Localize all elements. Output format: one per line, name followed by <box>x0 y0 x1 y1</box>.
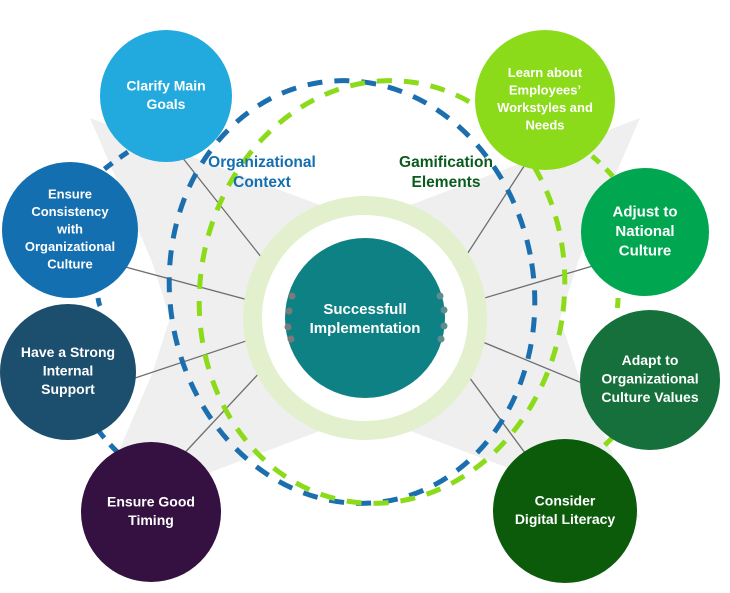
hub-dot-7 <box>441 323 448 330</box>
node-label-adjust-to-national-culture-line2: National <box>615 223 674 240</box>
center-label-line2: Implementation <box>310 320 421 337</box>
node-adapt-to-organizational-culture-values[interactable]: Adapt toOrganizationalCulture Values <box>580 310 720 450</box>
hub-dot-8 <box>438 336 445 343</box>
organizational-context-label-line2: Context <box>233 174 291 191</box>
node-label-learn-about-employees-workstyles-and-needs-line1: Learn about <box>508 65 583 80</box>
hub-dot-6 <box>441 307 448 314</box>
node-label-learn-about-employees-workstyles-and-needs-line4: Needs <box>525 118 564 133</box>
node-label-learn-about-employees-workstyles-and-needs-line3: Workstyles and <box>497 100 593 115</box>
diagram-root: Successfull Implementation Organizationa… <box>0 0 730 593</box>
node-ensure-good-timing[interactable]: Ensure GoodTiming <box>81 442 221 582</box>
hub-dot-5 <box>437 293 444 300</box>
node-label-ensure-consistency-with-organizational-culture-line3: with <box>56 221 83 236</box>
node-adjust-to-national-culture[interactable]: Adjust toNationalCulture <box>581 168 709 296</box>
node-label-consider-digital-literacy-line2: Digital Literacy <box>515 511 616 527</box>
node-label-ensure-consistency-with-organizational-culture-line1: Ensure <box>48 186 92 201</box>
hub-dot-3 <box>285 324 292 331</box>
center-label-line1: Successfull <box>323 301 406 318</box>
node-label-adapt-to-organizational-culture-values-line1: Adapt to <box>622 352 679 368</box>
node-label-clarify-main-goals-line2: Goals <box>147 96 186 112</box>
node-label-ensure-good-timing-line2: Timing <box>128 512 174 528</box>
framework-diagram: Successfull Implementation Organizationa… <box>0 0 730 593</box>
node-label-learn-about-employees-workstyles-and-needs-line2: Employees’ <box>509 83 581 98</box>
node-have-a-strong-internal-support[interactable]: Have a StrongInternalSupport <box>0 304 136 440</box>
organizational-context-label-line1: Organizational <box>208 154 316 171</box>
node-label-ensure-consistency-with-organizational-culture-line5: Culture <box>47 256 93 271</box>
node-label-consider-digital-literacy-line1: Consider <box>535 492 596 508</box>
hub-dot-1 <box>289 293 296 300</box>
node-ensure-consistency-with-organizational-culture[interactable]: EnsureConsistencywithOrganizationalCultu… <box>2 162 138 298</box>
node-label-have-a-strong-internal-support-line1: Have a Strong <box>21 344 115 360</box>
node-consider-digital-literacy[interactable]: ConsiderDigital Literacy <box>493 439 637 583</box>
center-core-circle <box>285 238 445 398</box>
node-label-adjust-to-national-culture-line3: Culture <box>619 242 672 259</box>
hub-dot-2 <box>286 308 293 315</box>
gamification-elements-label-line2: Elements <box>412 174 481 191</box>
node-label-adapt-to-organizational-culture-values-line2: Organizational <box>601 371 698 387</box>
link-consistency-to-support <box>98 298 100 306</box>
node-label-adjust-to-national-culture-line1: Adjust to <box>613 203 678 220</box>
node-learn-about-employees-workstyles-and-needs[interactable]: Learn aboutEmployees’Workstyles andNeeds <box>475 30 615 170</box>
node-clarify-main-goals[interactable]: Clarify MainGoals <box>100 30 232 162</box>
center-rings <box>243 196 487 440</box>
node-label-ensure-good-timing-line1: Ensure Good <box>107 493 195 509</box>
node-label-ensure-consistency-with-organizational-culture-line2: Consistency <box>31 204 109 219</box>
link-adjust-to-adapt <box>617 298 618 310</box>
node-label-adapt-to-organizational-culture-values-line3: Culture Values <box>601 389 698 405</box>
node-label-clarify-main-goals-line1: Clarify Main <box>126 77 205 93</box>
node-label-have-a-strong-internal-support-line2: Internal <box>43 363 94 379</box>
node-label-ensure-consistency-with-organizational-culture-line4: Organizational <box>25 239 115 254</box>
hub-dot-4 <box>288 336 295 343</box>
gamification-elements-label-line1: Gamification <box>399 154 493 171</box>
node-label-have-a-strong-internal-support-line3: Support <box>41 381 95 397</box>
